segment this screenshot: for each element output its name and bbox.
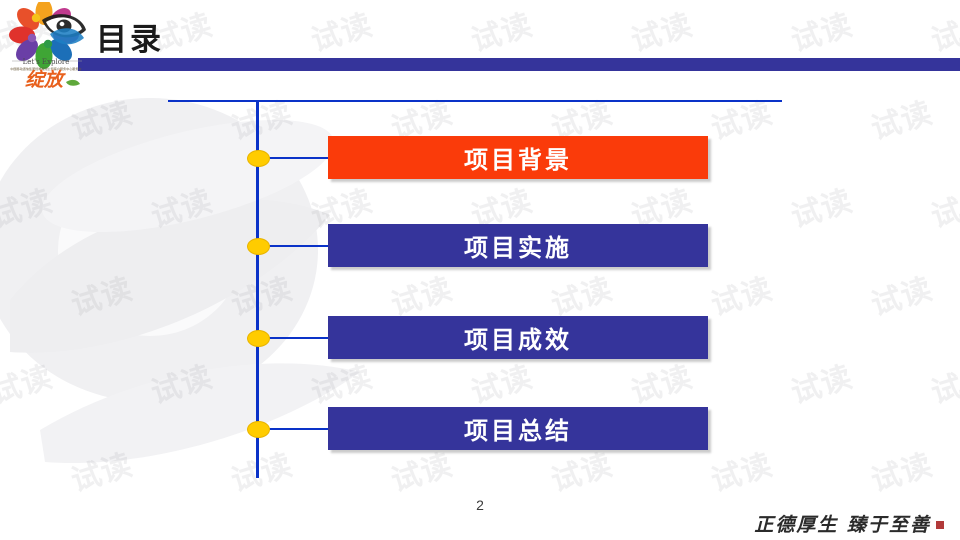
watermark-text: 试读 [225, 440, 297, 500]
bullet-node-icon [247, 150, 270, 167]
watermark-text: 试读 [785, 0, 857, 60]
watermark-text: 试读 [785, 176, 857, 236]
contents-top-rule [168, 100, 782, 102]
watermark-text: 试读 [465, 0, 537, 60]
page-title: 目录 [96, 14, 164, 59]
watermark-text: 试读 [0, 352, 57, 412]
watermark-text: 试读 [305, 352, 377, 412]
footer-motto: 正德厚生 臻于至善 [754, 510, 944, 537]
watermark-text: 试读 [625, 352, 697, 412]
contents-item-project-background[interactable]: 项目背景 [328, 136, 708, 179]
slide-canvas: 试读 试读 试读 试读 试读 试读 试读 试读 试读 试读 试读 试读 试读 试… [0, 0, 960, 540]
contents-item-project-summary[interactable]: 项目总结 [328, 407, 708, 450]
watermark-text: 试读 [305, 0, 377, 60]
contents-item-label: 项目总结 [464, 411, 572, 446]
contents-item-project-results[interactable]: 项目成效 [328, 316, 708, 359]
watermark-text: 试读 [705, 440, 777, 500]
watermark-text: 试读 [225, 88, 297, 148]
watermark-layer: 试读 试读 试读 试读 试读 试读 试读 试读 试读 试读 试读 试读 试读 试… [0, 0, 960, 540]
watermark-text: 试读 [705, 264, 777, 324]
contents-item-label: 项目背景 [464, 140, 572, 175]
watermark-text: 试读 [865, 264, 937, 324]
bullet-node-icon [247, 238, 270, 255]
watermark-text: 试读 [785, 352, 857, 412]
company-logo: Let's Explore 中国移动通信集团终端有限公司客户服务中心服务台 绽放 [4, 2, 88, 90]
seal-mark-icon [936, 521, 944, 529]
watermark-text: 试读 [145, 352, 217, 412]
logo-tagline: Let's Explore [23, 58, 70, 66]
watermark-text: 试读 [625, 0, 697, 60]
watermark-text: 试读 [65, 88, 137, 148]
watermark-text: 试读 [865, 440, 937, 500]
watermark-text: 试读 [145, 176, 217, 236]
watermark-text: 试读 [925, 0, 960, 60]
bullet-node-icon [247, 421, 270, 438]
watermark-text: 试读 [865, 88, 937, 148]
watermark-text: 试读 [225, 264, 297, 324]
contents-item-project-implementation[interactable]: 项目实施 [328, 224, 708, 267]
contents-item-label: 项目成效 [464, 320, 572, 355]
watermark-text: 试读 [65, 264, 137, 324]
watermark-text: 试读 [0, 176, 57, 236]
footer-motto-text: 正德厚生 臻于至善 [754, 514, 931, 536]
logo-wordmark: 绽放 [25, 69, 66, 90]
watermark-text: 试读 [925, 352, 960, 412]
bullet-node-icon [247, 330, 270, 347]
watermark-text: 试读 [65, 440, 137, 500]
watermark-text: 试读 [705, 88, 777, 148]
contents-item-label: 项目实施 [464, 228, 572, 263]
background-eye-artwork [0, 0, 960, 540]
watermark-text: 试读 [925, 176, 960, 236]
watermark-text: 试读 [465, 352, 537, 412]
header-accent-bar [78, 58, 960, 71]
